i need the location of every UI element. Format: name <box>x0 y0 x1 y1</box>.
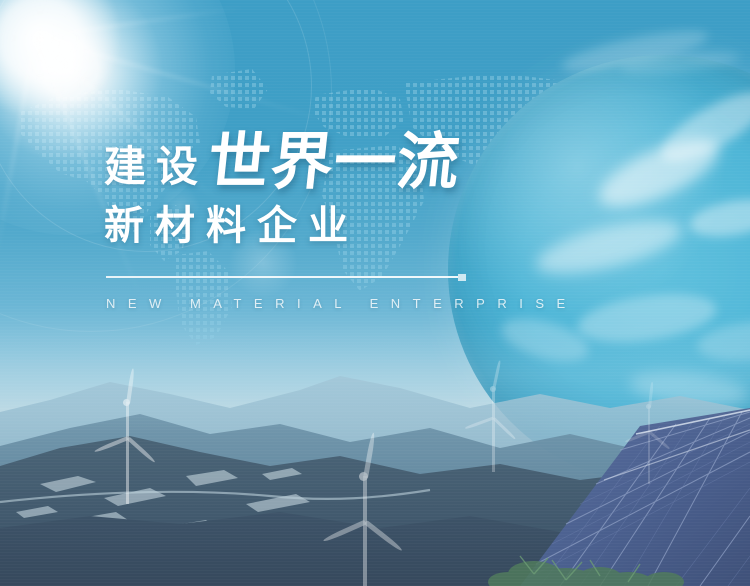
wind-turbine-icon <box>626 392 672 484</box>
divider-line <box>106 276 458 278</box>
wind-turbine-icon <box>98 384 158 504</box>
subtitle-text: NEW MATERIAL ENTERPRISE <box>106 296 578 311</box>
wind-turbine-icon <box>330 452 400 586</box>
wind-turbine-icon <box>468 372 520 472</box>
headline-line-2: 新材料企业 <box>104 206 704 246</box>
headline-line-1: 建设 世界一流 <box>104 132 704 194</box>
headline-bold-text: 世界一流 <box>205 132 464 194</box>
headline-block: 建设 世界一流 新材料企业 <box>104 132 704 246</box>
divider-rule <box>106 274 476 280</box>
hero-banner: 建设 世界一流 新材料企业 NEW MATERIAL ENTERPRISE <box>0 0 750 586</box>
headline-light-text: 建设 <box>104 146 208 194</box>
divider-end-cap <box>458 274 466 281</box>
